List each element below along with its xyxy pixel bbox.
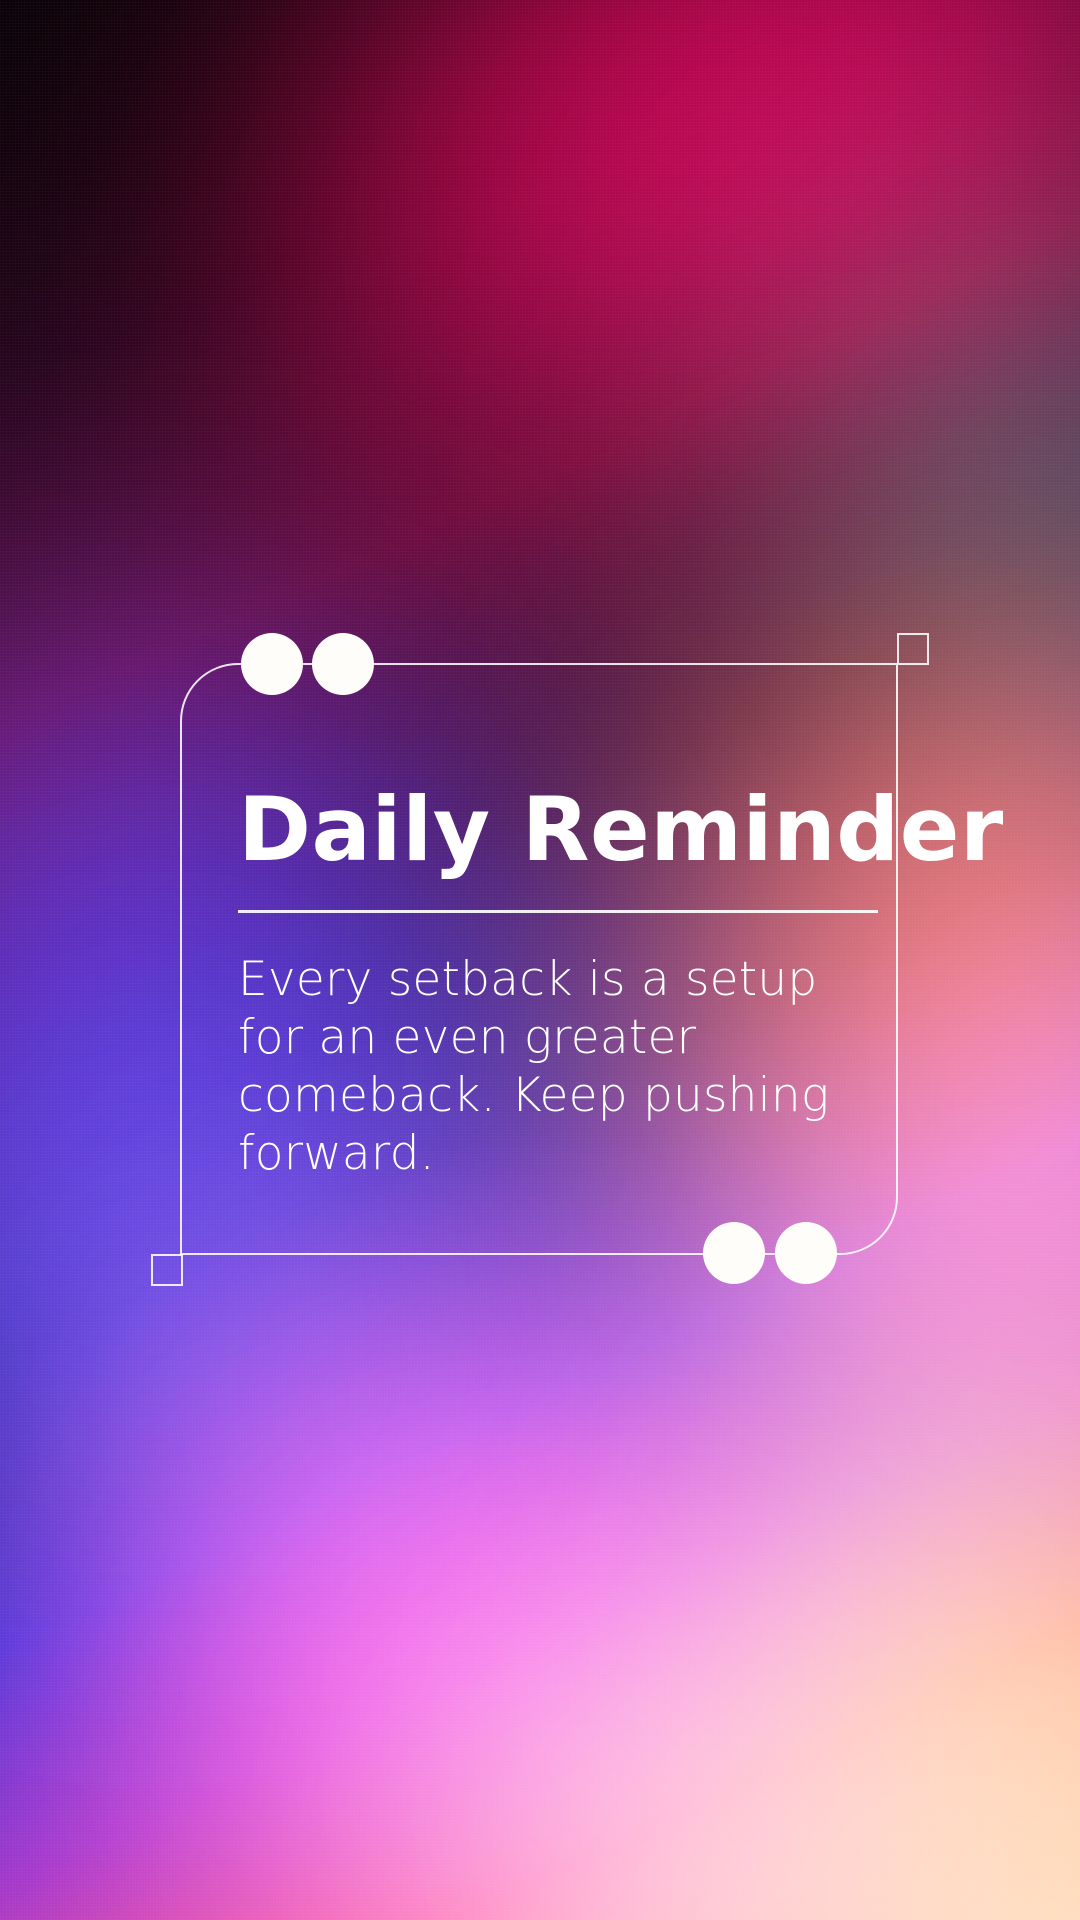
title-divider xyxy=(238,910,878,913)
card-content: Daily Reminder Every setback is a setup … xyxy=(238,780,878,1183)
card-body-text: Every setback is a setup for an even gre… xyxy=(238,951,878,1183)
card-title: Daily Reminder xyxy=(238,780,878,880)
poster-canvas: Daily Reminder Every setback is a setup … xyxy=(0,0,1080,1920)
